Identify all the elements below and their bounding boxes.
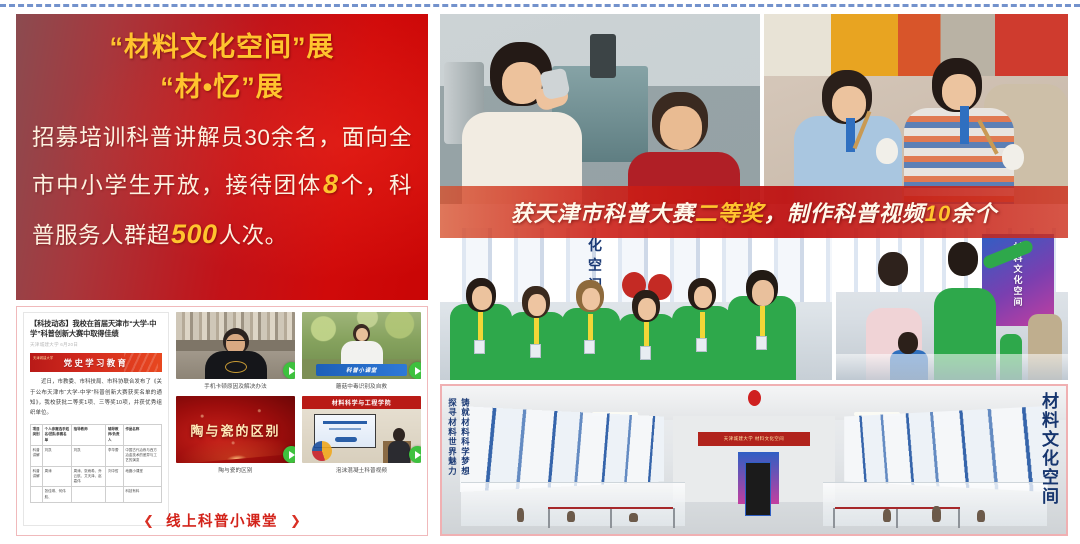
team-member-face — [752, 280, 774, 306]
left-wall-panels — [460, 406, 664, 492]
video-row-top: 手机卡顿原因及解决办法 科普小课堂 蘑菇中毒识别及自救 — [176, 312, 421, 390]
glasses-icon — [227, 340, 245, 344]
display-case — [836, 354, 1068, 380]
speaker-head — [393, 428, 405, 442]
table-cell: 周涛 — [43, 466, 72, 487]
photo-collage: 获天津市科普大赛二等奖，制作科普视频10余个 化空间 — [440, 14, 1068, 536]
article-banner-tag: 天津城建大学 — [33, 355, 53, 360]
exhibit-artifacts — [442, 498, 1066, 522]
artifact-vase — [567, 511, 575, 522]
slide-line — [323, 421, 367, 424]
article-banner: 天津城建大学 党史学习教育 — [30, 353, 162, 372]
article-headline: 【科技动态】我校在首届天津市“大学-中学”科普创新大赛中取得佳绩 — [30, 319, 162, 339]
ribbon-text-part2: ，制作科普视频 — [764, 201, 925, 226]
banner-stripe-decoration — [124, 353, 158, 372]
video-overlay-label: 材料科学与工程学院 — [302, 396, 421, 409]
lanyard — [534, 318, 539, 346]
video-cell[interactable]: 手机卡顿原因及解决办法 — [176, 312, 295, 390]
hall-slogan-column-2: 铸就材料科学梦想 — [460, 398, 472, 516]
artifact-vase — [883, 509, 891, 522]
hall-back-banner: 天津城建大学 材料文化空间 — [698, 432, 810, 446]
video-caption: 蘑菇中毒识别及自救 — [302, 382, 421, 390]
photo-volunteer-team-green-shirts[interactable]: 化空间 — [440, 228, 832, 380]
table-header-row: 项目类别 个人参赛选手姓名/团队参赛名单 指导教师 辅导教师/负责人 作品名称 — [31, 425, 162, 446]
lanyard — [644, 322, 649, 348]
play-button-icon[interactable] — [409, 362, 421, 379]
person-face — [356, 328, 368, 341]
slide-line — [329, 428, 361, 430]
red-lantern — [748, 390, 761, 406]
article-banner-title: 党史学习教育 — [64, 357, 129, 369]
id-badge — [756, 336, 767, 350]
photo-children-handling-ceramics[interactable] — [440, 14, 760, 204]
table-row: 科普讲解 周涛 周涛、张雨希、乔云航、艾天泽、赵嘉伟 刘中哲 地震小课堂 — [31, 466, 162, 487]
table-cell: 科技有料 — [123, 487, 161, 503]
table-cell — [31, 487, 43, 503]
table-header-cell: 项目类别 — [31, 425, 43, 446]
artifact-vase — [517, 508, 524, 522]
hall-slogan-column-1: 探寻材料世界魅力 — [447, 398, 459, 516]
video-row-bottom: 陶与瓷的区别 陶与瓷的区别 材料科学与工程学院 — [176, 396, 421, 474]
slide-button-shape — [335, 437, 357, 442]
lanyard — [588, 314, 593, 342]
ceramic-egg — [1002, 144, 1024, 170]
chevron-right-icon[interactable]: ❯ — [290, 513, 301, 529]
decorative-circle — [312, 441, 332, 461]
artifact-vase — [977, 510, 985, 522]
red-panel-title-line1: “材料文化空间”展 — [32, 28, 412, 66]
right-wall-panels — [844, 406, 1048, 492]
table-cell: 刘凯 — [43, 445, 72, 466]
id-badge — [530, 344, 541, 358]
red-panel-body: 招募培训科普讲解员30余名，面向全市中小学生开放，接待团体8个，科普服务人群超5… — [32, 117, 412, 259]
table-cell: 中国古代冶炼与西方冶金技术的差异与工艺的演变 — [123, 445, 161, 466]
table-header-cell: 辅导教师/负责人 — [106, 425, 123, 446]
video-overlay-label: 陶与瓷的区别 — [176, 420, 295, 439]
video-cell[interactable]: 材料科学与工程学院 泡沫混凝土科普视频 — [302, 396, 421, 474]
table-cell: 张佳琪、何伟航、 — [43, 487, 72, 503]
play-button-icon[interactable] — [409, 446, 421, 463]
lanyard — [700, 312, 705, 340]
video-thumbnail-man-at-desk[interactable] — [176, 312, 295, 379]
id-badge — [584, 340, 595, 354]
lanyard — [478, 312, 483, 342]
video-caption: 手机卡顿原因及解决办法 — [176, 382, 295, 390]
ceramic-egg — [876, 138, 898, 164]
table-header-cell: 作品名称 — [123, 425, 161, 446]
student-two-face — [942, 74, 976, 110]
id-badge — [640, 346, 651, 360]
mural-background — [764, 14, 1068, 76]
video-thumbnail-woman-outdoors[interactable]: 科普小课堂 — [302, 312, 421, 379]
team-member-face — [638, 298, 656, 320]
team-member-face — [694, 286, 712, 308]
red-panel-highlight-people: 500 — [170, 219, 219, 249]
achievement-ribbon-banner: 获天津市科普大赛二等奖，制作科普视频10余个 — [440, 186, 1068, 238]
team-member-face — [528, 294, 546, 316]
hall-right-wall-title: 材料文化空间 — [1036, 392, 1061, 516]
table-row: 科普讲解 刘凯 刘凯 李华蕾 中国古代冶炼与西方冶金技术的差异与工艺的演变 — [31, 445, 162, 466]
table-cell — [106, 487, 123, 503]
ribbon-text-part1: 获天津市科普大赛 — [511, 201, 695, 226]
child-head — [898, 332, 918, 354]
artifact-vase — [932, 506, 941, 522]
video-caption: 陶与瓷的区别 — [176, 466, 295, 474]
article-paragraph: 近日，市教委、市科技局、市科协联合发布了《关于公布天津市“大学-中学”科普创新大… — [30, 377, 162, 418]
wechat-screenshot-card[interactable]: 【科技动态】我校在首届天津市“大学-中学”科普创新大赛中取得佳绩 天津城建大学 … — [16, 306, 428, 536]
card-navigation-bar: ❮ 线上科普小课堂 ❯ — [17, 510, 427, 531]
red-panel-title-line2: “材•忆”展 — [32, 68, 412, 106]
ribbon-text-part3: 余个 — [951, 201, 997, 226]
ribbon-gold-count: 10 — [925, 201, 951, 226]
red-panel-highlight-groups: 8 — [322, 169, 340, 199]
play-button-icon[interactable] — [283, 446, 295, 463]
person-torso — [341, 341, 383, 365]
shirt-logo — [225, 361, 247, 373]
wechat-article-preview[interactable]: 【科技动态】我校在首届天津市“大学-中学”科普创新大赛中取得佳绩 天津城建大学 … — [23, 312, 169, 526]
ribbon-gold-award: 二等奖 — [695, 201, 764, 226]
table-cell: 周涛、张雨希、乔云航、艾天泽、赵嘉伟 — [72, 466, 106, 487]
team-member-face — [582, 288, 600, 310]
artifact-vase — [629, 513, 638, 522]
table-cell: 地震小课堂 — [123, 466, 161, 487]
team-member-face — [472, 286, 492, 310]
guide-head — [948, 242, 978, 276]
video-caption: 泡沫混凝土科普视频 — [302, 466, 421, 474]
table-cell — [72, 487, 106, 503]
visitor-head — [878, 252, 908, 286]
slide-canvas[interactable]: “材料文化空间”展 “材•忆”展 招募培训科普讲解员30余名，面向全市中小学生开… — [0, 0, 1080, 544]
table-header-cell: 个人参赛选手姓名/团队参赛名单 — [43, 425, 72, 446]
article-meta: 天津城建大学 6月20日 — [30, 342, 162, 348]
red-panel-body-part3: 人次。 — [219, 223, 288, 248]
lab-arm — [590, 34, 616, 78]
lanyard — [960, 106, 969, 144]
ribbon-text: 获天津市科普大赛二等奖，制作科普视频10余个 — [511, 196, 998, 228]
table-cell: 科普讲解 — [31, 466, 43, 487]
video-thumbnail-red-title-card[interactable]: 陶与瓷的区别 — [176, 396, 295, 463]
id-badge — [696, 338, 707, 352]
table-cell: 刘中哲 — [106, 466, 123, 487]
speaker-body — [388, 441, 410, 463]
table-row: 张佳琪、何伟航、 科技有料 — [31, 487, 162, 503]
selection-dashed-border[interactable] — [0, 4, 1080, 7]
video-thumbnail-grid: 手机卡顿原因及解决办法 科普小课堂 蘑菇中毒识别及自救 — [169, 312, 421, 535]
video-overlay-label: 科普小课堂 — [316, 364, 407, 376]
student-one-face — [832, 86, 866, 122]
chevron-left-icon[interactable]: ❮ — [143, 513, 154, 529]
photo-exhibition-hall-panorama[interactable]: 天津城建大学 材料文化空间 — [440, 384, 1068, 536]
photo-students-painting-craft[interactable] — [764, 14, 1068, 204]
play-button-icon[interactable] — [283, 362, 295, 379]
table-header-cell: 指导教师 — [72, 425, 106, 446]
table-cell: 刘凯 — [72, 445, 106, 466]
table-cell: 科普讲解 — [31, 445, 43, 466]
red-text-panel[interactable]: “材料文化空间”展 “材•忆”展 招募培训科普讲解员30余名，面向全市中小学生开… — [16, 14, 428, 300]
id-badge — [474, 340, 485, 354]
hall-left-wall-slogan: 探寻材料世界魅力 铸就材料科学梦想 — [446, 398, 472, 516]
lanyard — [760, 306, 765, 338]
photo-guide-explaining-exhibit[interactable]: 材料文化空间 — [836, 228, 1068, 380]
video-thumbnail-lecture-room[interactable]: 材料科学与工程学院 — [302, 396, 421, 463]
video-cell[interactable]: 科普小课堂 蘑菇中毒识别及自救 — [302, 312, 421, 390]
article-results-table: 项目类别 个人参赛选手姓名/团队参赛名单 指导教师 辅导教师/负责人 作品名称 … — [30, 424, 162, 503]
boy-face — [660, 106, 702, 150]
card-nav-label: 线上科普小课堂 — [166, 510, 278, 531]
table-cell: 李华蕾 — [106, 445, 123, 466]
video-cell[interactable]: 陶与瓷的区别 陶与瓷的区别 — [176, 396, 295, 474]
